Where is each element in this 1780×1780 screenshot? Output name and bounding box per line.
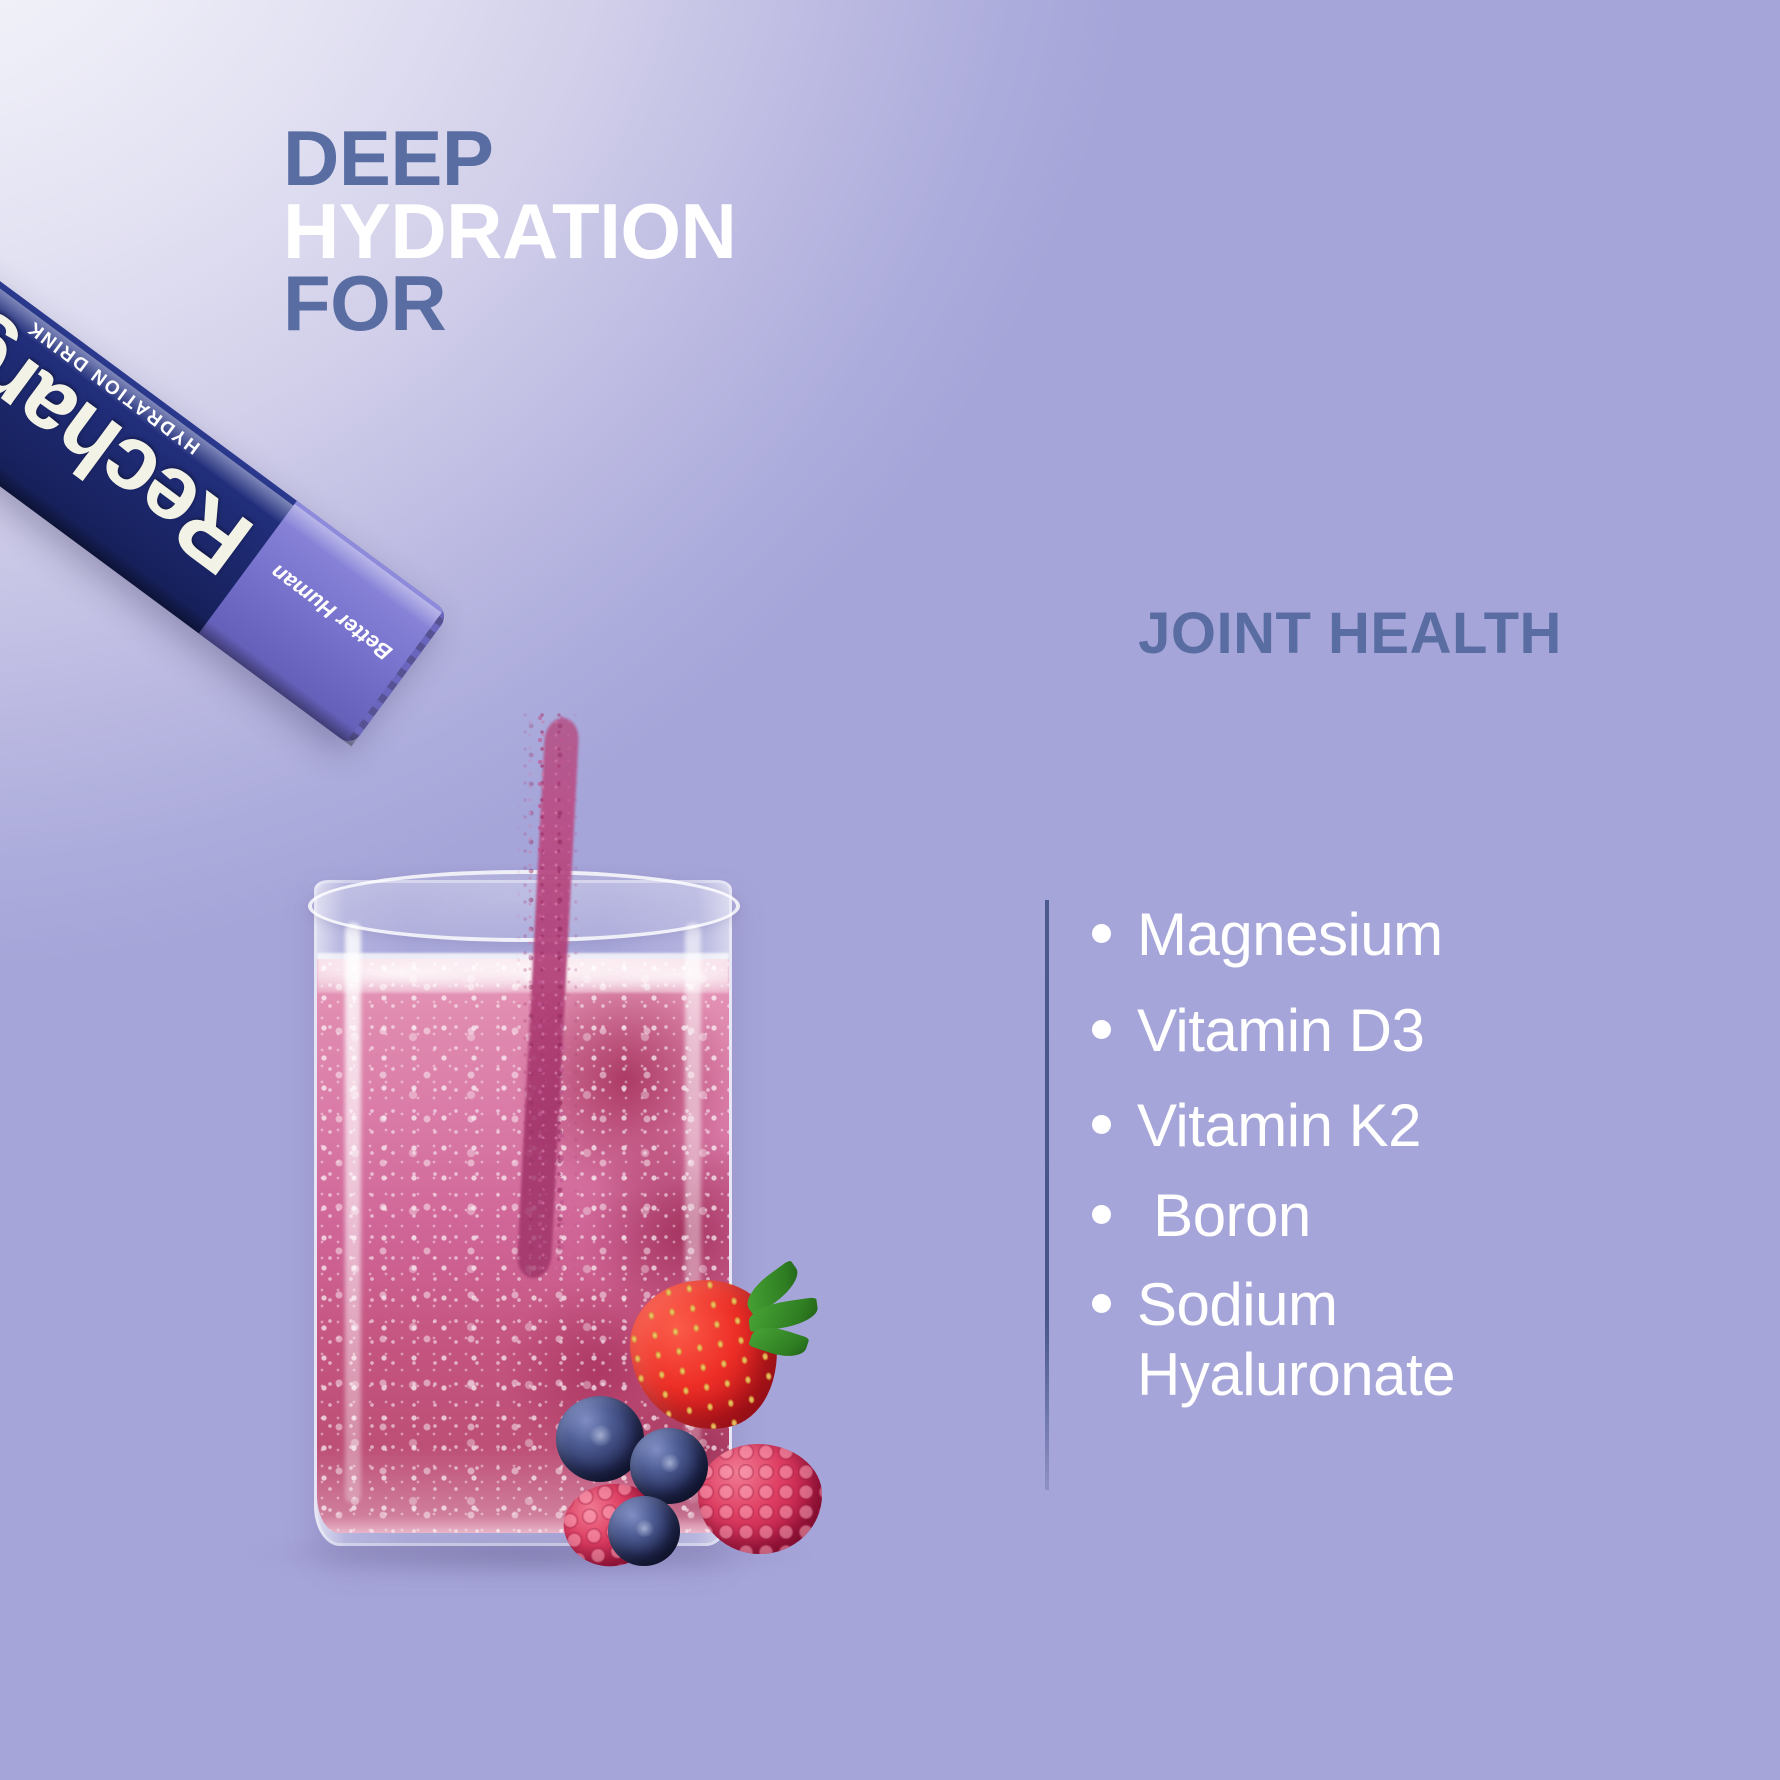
strawberry-leaf <box>747 1297 820 1332</box>
strawberry-leaf <box>740 1260 805 1317</box>
benefit-column: JOINT HEALTH <box>920 0 1780 760</box>
headline-block: DEEP HYDRATION FOR <box>283 122 736 340</box>
drink-glass <box>300 880 740 1560</box>
ingredient-label: Vitamin D3 <box>1137 996 1424 1066</box>
bullet-icon <box>1092 1205 1111 1224</box>
ad-canvas: DEEP HYDRATION FOR Recharge HYDRATION DR… <box>0 0 1780 1780</box>
headline-line-3: FOR <box>283 267 736 340</box>
ingredient-label: Vitamin K2 <box>1137 1091 1421 1161</box>
glass-highlight-left <box>345 923 361 1503</box>
glass-floor-shadow <box>250 1528 810 1580</box>
strawberry-leaf <box>748 1321 809 1363</box>
list-item: Vitamin K2 <box>1046 1091 1746 1161</box>
blueberry-icon <box>630 1428 708 1504</box>
benefit-label: JOINT HEALTH <box>920 600 1780 667</box>
sachet-subtagline: Better Human <box>266 559 397 666</box>
powder-pour-stream <box>503 718 595 1278</box>
list-item: Vitamin D3 <box>1046 996 1746 1066</box>
headline-line-2: HYDRATION <box>283 195 736 268</box>
ingredient-label: Boron <box>1137 1181 1311 1251</box>
sachet-lavender-section <box>199 501 450 747</box>
glass-highlight-right <box>685 923 701 1503</box>
list-item: Boron <box>1046 1181 1746 1251</box>
blueberry-icon <box>556 1396 644 1482</box>
pour-grains <box>513 712 585 1272</box>
glass-rim <box>308 870 740 942</box>
ingredient-label: Sodium Hyaluronate <box>1137 1270 1455 1409</box>
pour-core <box>516 718 579 1278</box>
ingredient-label: Magnesium <box>1137 900 1443 970</box>
sachet-tear-edge <box>346 610 450 747</box>
strawberry-icon <box>620 1268 790 1441</box>
carbonation-bubbles <box>317 959 729 1533</box>
sachet-tagline: HYDRATION DRINK <box>23 315 205 458</box>
bullet-icon <box>1092 924 1111 943</box>
sachet-brand-name: Recharge <box>0 276 267 590</box>
list-item: Magnesium <box>1046 900 1746 970</box>
glass-body <box>314 880 732 1546</box>
berry-cluster <box>548 1268 848 1568</box>
drink-liquid <box>317 959 729 1533</box>
bullet-icon <box>1092 1115 1111 1134</box>
ingredient-list: Magnesium Vitamin D3 Vitamin K2 Boron So… <box>1046 900 1746 1436</box>
headline-line-1: DEEP <box>283 122 736 195</box>
list-item: Sodium Hyaluronate <box>1046 1270 1746 1409</box>
drink-foam-line <box>317 953 729 993</box>
bullet-icon <box>1092 1294 1111 1313</box>
bullet-icon <box>1092 1020 1111 1039</box>
strawberry-seeds <box>620 1268 790 1441</box>
